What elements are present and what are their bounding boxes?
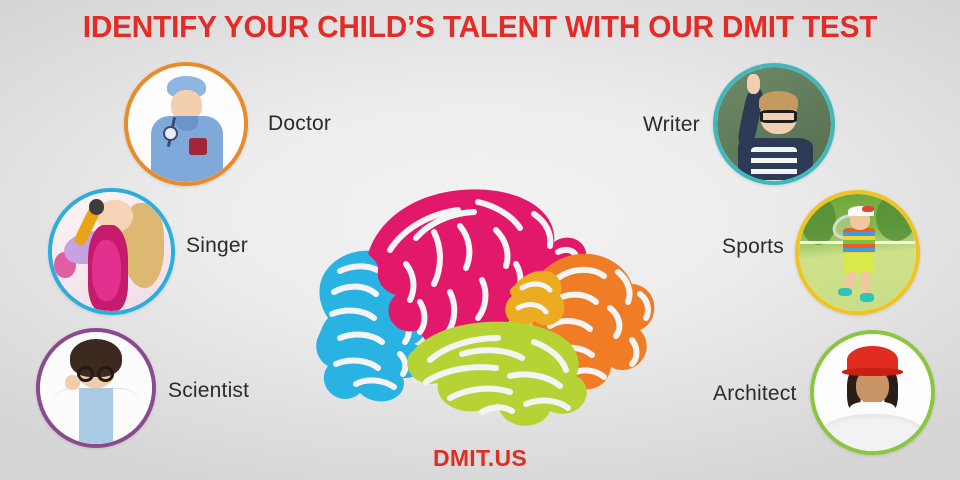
- glasses-icon: [97, 366, 114, 383]
- architect-photo-illustration: [814, 334, 931, 451]
- sports-photo: [795, 190, 920, 315]
- striped-shirt-shape: [843, 228, 875, 255]
- doctor-photo: [124, 62, 248, 186]
- scientist-photo: [36, 328, 156, 448]
- brand-wordmark: DMIT.US: [0, 445, 960, 472]
- talent-label-doctor: Doctor: [268, 112, 331, 136]
- feather-boa-highlight-shape: [92, 240, 121, 302]
- talent-label-sports: Sports: [722, 235, 784, 259]
- striped-shirt-shape: [751, 147, 797, 181]
- brain-illustration: [310, 168, 675, 443]
- sports-photo-illustration: [799, 194, 916, 311]
- tree-shape: [801, 196, 836, 245]
- talent-label-architect: Architect: [713, 382, 797, 406]
- doctor-photo-illustration: [128, 66, 244, 182]
- hair-shape: [759, 91, 798, 112]
- shoe-shape: [838, 288, 852, 296]
- page-title: IDENTIFY YOUR CHILD’S TALENT WITH OUR DM…: [19, 9, 941, 45]
- brain-segment-cerebellum-lobe: [407, 322, 587, 426]
- shoe-shape: [860, 293, 874, 301]
- glasses-icon: [760, 110, 796, 123]
- writer-photo-illustration: [717, 67, 831, 181]
- singer-photo: [48, 188, 175, 315]
- scientist-photo-illustration: [40, 332, 152, 444]
- badge-shape: [189, 138, 206, 155]
- writer-photo: [713, 63, 835, 185]
- singer-photo-illustration: [52, 192, 171, 311]
- talent-label-scientist: Scientist: [168, 379, 249, 403]
- shorts-shape: [843, 253, 873, 274]
- hard-hat-brim-shape: [842, 368, 903, 376]
- shirt-shape: [79, 388, 113, 444]
- visor-cap-accent-shape: [862, 206, 874, 212]
- hand-shape: [65, 375, 81, 391]
- raised-hand-icon: [747, 74, 761, 95]
- architect-photo: [810, 330, 935, 455]
- talent-label-singer: Singer: [186, 234, 248, 258]
- collar-shape: [176, 116, 198, 131]
- talent-label-writer: Writer: [643, 113, 700, 137]
- tree-shape: [876, 194, 916, 241]
- microphone-head-shape: [89, 199, 104, 214]
- dmit-promo-banner: IDENTIFY YOUR CHILD’S TALENT WITH OUR DM…: [0, 0, 960, 480]
